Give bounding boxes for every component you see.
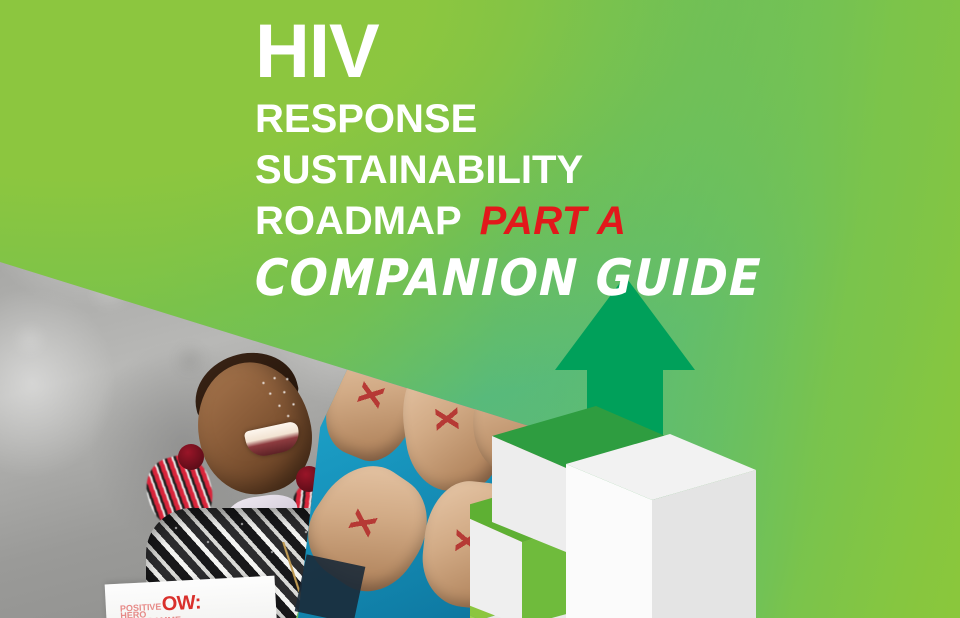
subtitle-companion-guide: COMPANION GUIDE (254, 251, 856, 305)
title-line-roadmap: ROADMAPPART A (255, 196, 855, 247)
earring-disc-left (178, 444, 204, 470)
step-4 (566, 434, 756, 618)
ascending-steps-graphic (470, 258, 790, 618)
title-line-response: RESPONSE (255, 94, 855, 145)
page-title-hiv: HIV (255, 16, 855, 88)
sleeve-cuff (295, 554, 366, 618)
title-part-badge: PART A (480, 199, 627, 243)
sign-visible-text: OW: (161, 591, 201, 616)
title-block: HIV RESPONSE SUSTAINABILITY ROADMAPPART … (255, 16, 855, 302)
title-line-sustainability: SUSTAINABILITY (255, 145, 855, 196)
protest-sign: POSITIVEHEROPROGRAMME OW: (105, 576, 278, 618)
red-ribbon-2 (435, 401, 459, 436)
steps-and-arrow-svg (470, 258, 790, 618)
hiv-roadmap-cover: POSITIVEHEROPROGRAMME OW: (0, 0, 960, 618)
title-roadmap-text: ROADMAP (255, 199, 462, 243)
